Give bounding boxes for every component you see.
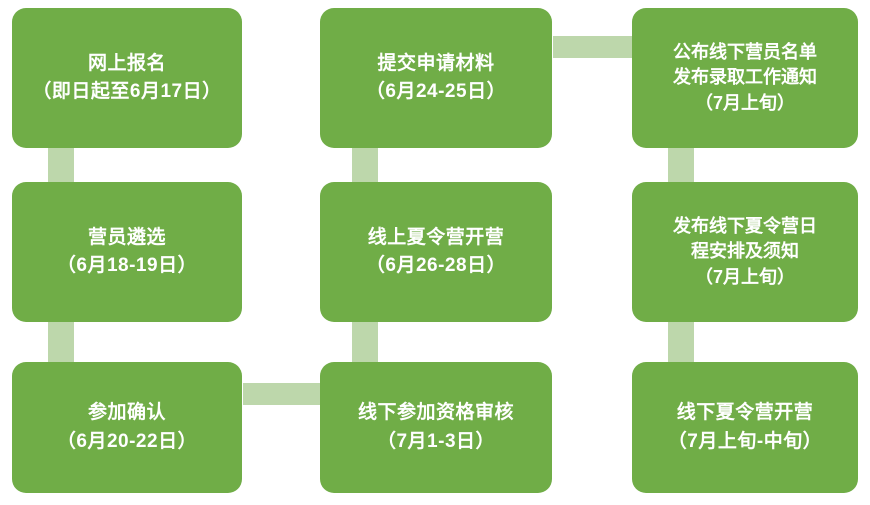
node-line: 提交申请材料 (377, 50, 494, 79)
node-line: （6月26-28日） (366, 252, 506, 281)
node-line: 网上报名 (88, 50, 166, 79)
node-online-camp-open[interactable]: 线上夏令营开营 （6月26-28日） (320, 182, 552, 322)
node-line: 发布录取工作通知 (673, 65, 817, 91)
node-submit-materials[interactable]: 提交申请材料 （6月24-25日） (320, 8, 552, 148)
node-announce-offline-list[interactable]: 公布线下营员名单 发布录取工作通知 （7月上旬） (632, 8, 858, 148)
connector-col2-row1-row2 (352, 148, 378, 182)
connector-col3-row2-row3 (668, 322, 694, 362)
node-line: 线下夏令营开营 (677, 399, 814, 428)
node-attendance-confirm[interactable]: 参加确认 （6月20-22日） (12, 362, 242, 493)
node-online-registration[interactable]: 网上报名 （即日起至6月17日） (12, 8, 242, 148)
node-line: （6月24-25日） (366, 78, 506, 107)
node-line: 程安排及须知 (691, 239, 799, 265)
node-offline-qualification-review[interactable]: 线下参加资格审核 （7月1-3日） (320, 362, 552, 493)
node-line: 参加确认 (88, 399, 166, 428)
node-line: （7月上旬） (695, 265, 795, 291)
node-line: 线下参加资格审核 (358, 399, 514, 428)
node-publish-schedule[interactable]: 发布线下夏令营日 程安排及须知 （7月上旬） (632, 182, 858, 322)
connector-col1-row1-row2 (48, 148, 74, 182)
node-line: （即日起至6月17日） (32, 78, 221, 107)
node-line: 公布线下营员名单 (673, 40, 817, 66)
node-camper-selection[interactable]: 营员遴选 （6月18-19日） (12, 182, 242, 322)
node-offline-camp-open[interactable]: 线下夏令营开营 （7月上旬-中旬） (632, 362, 858, 493)
node-line: 营员遴选 (88, 224, 166, 253)
connector-col2-row2-row3 (352, 322, 378, 362)
node-line: （7月上旬） (695, 91, 795, 117)
connector-col1-row2-row3 (48, 322, 74, 362)
connector-col1-col2-row3 (243, 383, 321, 405)
flowchart-diagram: 网上报名 （即日起至6月17日） 提交申请材料 （6月24-25日） 公布线下营… (0, 0, 870, 505)
node-line: 发布线下夏令营日 (673, 214, 817, 240)
connector-col2-col3-row1 (553, 36, 633, 58)
node-line: （6月20-22日） (57, 428, 197, 457)
node-line: （6月18-19日） (57, 252, 197, 281)
node-line: 线上夏令营开营 (368, 224, 505, 253)
connector-col3-row1-row2 (668, 148, 694, 182)
node-line: （7月上旬-中旬） (668, 428, 822, 457)
node-line: （7月1-3日） (377, 428, 495, 457)
